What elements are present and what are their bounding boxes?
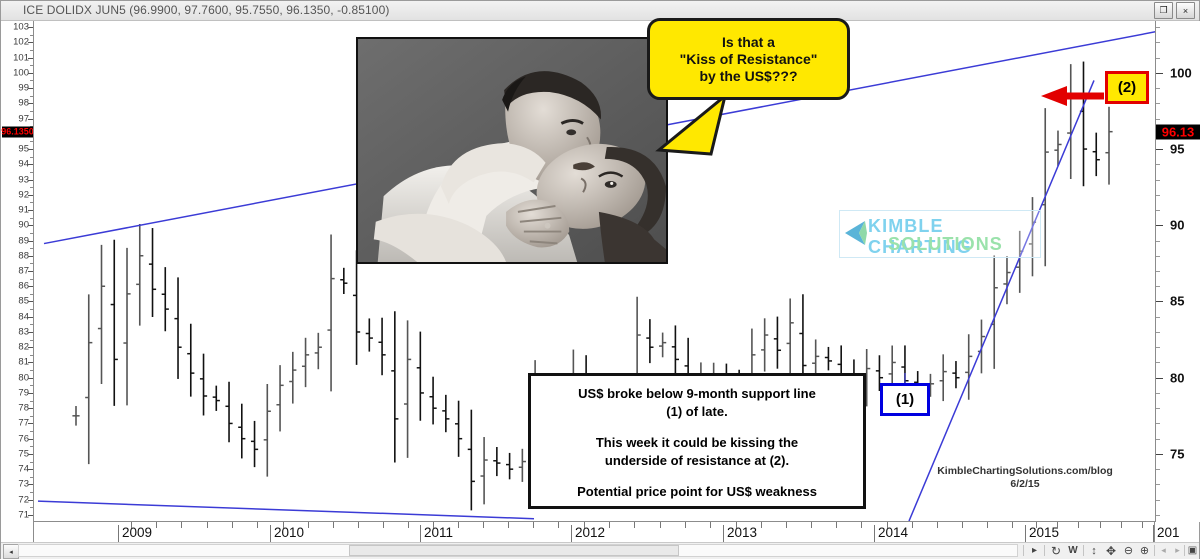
x-axis-minor-tick [408,522,409,528]
x-axis-minor-tick [232,522,233,528]
x-axis-minor-tick [458,522,459,528]
speech-bubble-tail [641,94,731,159]
x-axis-minor-tick [685,522,686,528]
x-axis-year-label: 2011 [420,525,453,542]
left-price-axis[interactable]: 1031021011009998979695949392919089888786… [1,21,33,522]
right-last-price-tag: 96.13 [1156,124,1200,139]
right-axis-minor-tick [1156,42,1160,43]
x-axis-minor-tick [1142,522,1143,528]
prev-icon[interactable]: ◂ [1157,544,1170,557]
bubble-line-3: by the US$??? [699,68,797,85]
right-axis-minor-tick [1156,271,1160,272]
right-axis-minor-tick [1156,27,1160,28]
right-axis-minor-tick [1156,362,1160,363]
right-axis-minor-tick [1156,469,1160,470]
window-controls: ❐ × [1154,2,1195,19]
x-axis-year-label: 2015 [1025,525,1059,542]
x-axis-minor-tick [358,522,359,528]
right-price-axis[interactable]: 100959085807596.13 [1155,21,1200,522]
x-axis-year-label: 201 [1153,525,1180,542]
right-axis-minor-tick [1156,103,1160,104]
right-axis-major-tick [1156,301,1163,302]
x-axis-minor-tick [483,522,484,528]
x-axis-minor-tick [131,522,132,528]
x-axis-minor-tick [987,522,988,528]
x-axis-minor-tick [558,522,559,528]
x-axis-minor-tick [937,522,938,528]
weekly-interval-button[interactable]: W [1065,544,1081,557]
right-axis-tick-label: 90 [1170,218,1184,233]
right-axis-minor-tick [1156,119,1160,120]
right-axis-minor-tick [1156,423,1160,424]
right-axis-minor-tick [1156,241,1160,242]
zoom-out-icon[interactable]: ⊖ [1121,544,1136,557]
x-axis-minor-tick [736,522,737,528]
x-axis-minor-tick [710,522,711,528]
x-axis-minor-tick [207,522,208,528]
info-line-2: (1) of late. [537,403,857,421]
right-axis-minor-tick [1156,164,1160,165]
attribution: KimbleChartingSolutions.com/blog 6/2/15 [935,465,1115,491]
x-axis-minor-tick [811,522,812,528]
info-line-5: Potential price point for US$ weakness [537,483,857,501]
next-icon[interactable]: ▸ [1171,544,1184,557]
left-axis-tick-label: 103 [13,22,29,33]
x-axis-minor-tick [1078,522,1079,528]
maximize-icon[interactable]: ▣ [1186,544,1199,557]
x-axis-minor-tick [1057,522,1058,528]
info-line-3: This week it could be kissing the [537,434,857,452]
right-axis-major-tick [1156,454,1163,455]
x-axis-minor-tick [609,522,610,528]
kimble-logo-icon [843,219,869,247]
x-axis-minor-tick [257,522,258,528]
attribution-date: 6/2/15 [935,478,1115,491]
refresh-icon[interactable]: ↻ [1048,544,1064,557]
left-axis-tick-label: 101 [13,52,29,63]
x-axis-minor-tick [383,522,384,528]
x-axis-year-label: 2014 [874,525,908,542]
watermark-line-2: SOLUTIONS [888,234,1003,255]
close-window-button[interactable]: × [1176,2,1195,19]
right-axis-minor-tick [1156,408,1160,409]
pan-icon[interactable]: ✥ [1103,544,1119,557]
info-line-1: US$ broke below 9-month support line [537,385,857,403]
right-axis-minor-tick [1156,484,1160,485]
x-axis-minor-tick [836,522,837,528]
right-axis-major-tick [1156,378,1163,379]
right-axis-tick-label: 100 [1170,65,1192,80]
right-axis-tick-label: 80 [1170,370,1184,385]
watermark: KIMBLE CHARTING SOLUTIONS [839,210,1041,258]
lower-descending-line [38,501,534,519]
attribution-site: KimbleChartingSolutions.com/blog [935,465,1115,478]
x-axis-minor-tick [1012,522,1013,528]
x-axis-minor-tick [308,522,309,528]
x-axis-minor-tick [156,522,157,528]
right-axis-minor-tick [1156,332,1160,333]
x-axis-minor-tick [1100,522,1101,528]
right-axis-minor-tick [1156,58,1160,59]
scrollbar-thumb[interactable] [349,545,679,556]
left-axis-tick-label: 100 [13,67,29,78]
right-axis-minor-tick [1156,393,1160,394]
bubble-line-1: Is that a [722,34,775,51]
right-axis-minor-tick [1156,500,1160,501]
window-title: ICE DOLIDX JUN5 (96.9900, 97.7600, 95.75… [23,3,389,17]
speech-bubble: Is that a "Kiss of Resistance" by the US… [647,18,850,100]
x-axis-minor-tick [887,522,888,528]
left-axis-tick-label: 102 [13,37,29,48]
x-axis-minor-tick [861,522,862,528]
right-axis-minor-tick [1156,210,1160,211]
zoom-in-icon[interactable]: ⊕ [1137,544,1152,557]
right-axis-tick-label: 75 [1170,446,1184,461]
x-axis-minor-tick [634,522,635,528]
x-axis-minor-tick [181,522,182,528]
x-axis-minor-tick [533,522,534,528]
callout-tag-1: (1) [880,383,930,416]
bubble-line-2: "Kiss of Resistance" [680,51,818,68]
kiss-photo [356,37,668,264]
window-titlebar: ICE DOLIDX JUN5 (96.9900, 97.7600, 95.75… [1,1,1199,21]
x-axis-minor-tick [962,522,963,528]
x-axis-year-label: 2013 [723,525,757,542]
right-axis-minor-tick [1156,256,1160,257]
x-axis-minor-tick [1121,522,1122,528]
x-axis-year-label: 2009 [118,525,152,542]
right-axis-tick-label: 95 [1170,142,1184,157]
bottom-toolbar: ◂ ▸ ↻ W ↕ ✥ ⊖ ⊕ ◂ ▸ ▣ [1,542,1199,559]
x-axis-minor-tick [584,522,585,528]
x-axis-minor-tick [786,522,787,528]
right-axis-minor-tick [1156,286,1160,287]
right-axis-major-tick [1156,73,1163,74]
info-line-4: underside of resistance at (2). [537,452,857,470]
right-axis-tick-label: 85 [1170,294,1184,309]
x-axis-minor-tick [508,522,509,528]
x-axis-year-label: 2012 [571,525,605,542]
right-axis-minor-tick [1156,515,1160,516]
x-axis-minor-tick [1036,522,1037,528]
scroll-left-button[interactable]: ◂ [3,544,19,559]
right-axis-minor-tick [1156,195,1160,196]
right-axis-minor-tick [1156,317,1160,318]
chart-window: ICE DOLIDX JUN5 (96.9900, 97.7600, 95.75… [0,0,1200,559]
callout-tag-2: (2) [1105,71,1149,104]
right-axis-minor-tick [1156,88,1160,89]
x-axis-minor-tick [912,522,913,528]
right-axis-major-tick [1156,149,1163,150]
nine-month-support-line [909,80,1094,521]
restore-window-button[interactable]: ❐ [1154,2,1173,19]
left-last-price-tag: 96.1350 [2,126,33,137]
x-axis-year-label: 2010 [270,525,304,542]
analysis-text-box: US$ broke below 9-month support line (1)… [528,373,866,509]
right-axis-major-tick [1156,225,1163,226]
x-axis-minor-tick [283,522,284,528]
x-axis-minor-tick [761,522,762,528]
horizontal-scrollbar[interactable] [18,544,1018,557]
x-axis-minor-tick [333,522,334,528]
x-axis-minor-tick [660,522,661,528]
x-axis-minor-tick [433,522,434,528]
right-axis-minor-tick [1156,347,1160,348]
scroll-right-button[interactable]: ▸ [1027,544,1042,557]
vertical-scale-icon[interactable]: ↕ [1087,544,1101,557]
right-axis-minor-tick [1156,180,1160,181]
right-axis-minor-tick [1156,439,1160,440]
